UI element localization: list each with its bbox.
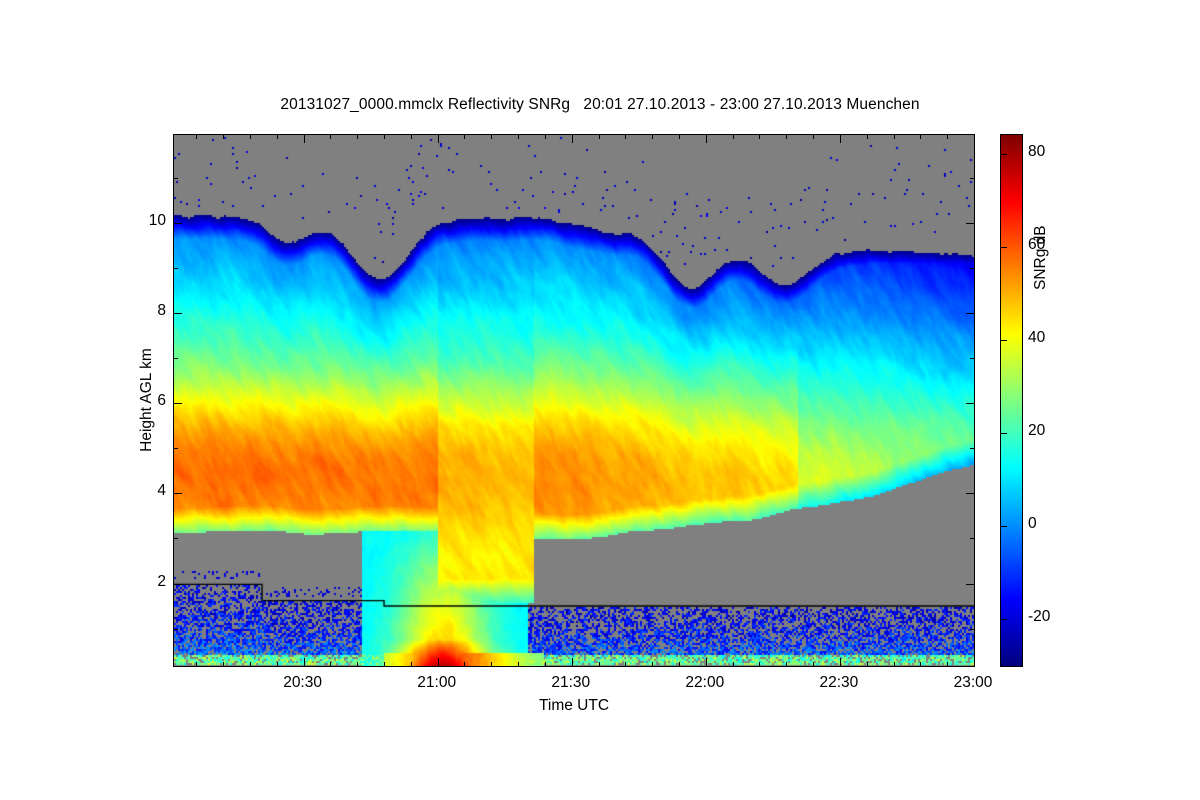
x-minor-tick-top: [867, 135, 868, 139]
colorbar-label: SNRg dB: [1032, 70, 1050, 290]
x-minor-tick: [277, 662, 278, 666]
x-minor-tick: [330, 662, 331, 666]
x-minor-tick: [947, 662, 948, 666]
x-minor-tick: [357, 662, 358, 666]
x-major-tick-top: [438, 135, 439, 143]
x-minor-tick: [652, 662, 653, 666]
x-minor-tick-top: [947, 135, 948, 139]
colorbar-tick-label: 0: [1028, 515, 1037, 533]
plot-title: 20131027_0000.mmclx Reflectivity SNRg 20…: [0, 96, 1200, 114]
x-axis-label: Time UTC: [173, 697, 975, 715]
y-tick-label: 4: [157, 482, 166, 500]
y-minor-tick-right: [970, 538, 974, 539]
x-minor-tick: [625, 662, 626, 666]
x-minor-tick-top: [625, 135, 626, 139]
x-minor-tick: [411, 662, 412, 666]
colorbar-tick-label: 20: [1028, 422, 1045, 440]
x-minor-tick: [384, 662, 385, 666]
x-minor-tick-top: [357, 135, 358, 139]
x-tick-label: 23:00: [954, 674, 993, 692]
x-major-tick: [438, 658, 439, 666]
y-major-tick: [174, 493, 182, 494]
plot-axes-area: [173, 134, 975, 667]
y-minor-tick: [174, 268, 178, 269]
x-minor-tick-top: [652, 135, 653, 139]
x-major-tick-top: [974, 135, 975, 143]
x-minor-tick: [250, 662, 251, 666]
x-minor-tick-top: [813, 135, 814, 139]
colorbar-tick: [1001, 619, 1007, 620]
y-major-tick-right: [966, 584, 974, 585]
colorbar-tick: [1001, 247, 1007, 248]
x-minor-tick-top: [786, 135, 787, 139]
y-minor-tick: [174, 629, 178, 630]
radar-reflectivity-figure: 20131027_0000.mmclx Reflectivity SNRg 20…: [0, 0, 1200, 800]
y-minor-tick: [174, 178, 178, 179]
x-minor-tick: [733, 662, 734, 666]
x-tick-label: 20:30: [283, 674, 322, 692]
x-major-tick: [706, 658, 707, 666]
x-minor-tick: [813, 662, 814, 666]
x-minor-tick-top: [464, 135, 465, 139]
x-major-tick-top: [304, 135, 305, 143]
y-minor-tick-right: [970, 178, 974, 179]
y-minor-tick-right: [970, 448, 974, 449]
x-major-tick-top: [572, 135, 573, 143]
x-minor-tick-top: [384, 135, 385, 139]
x-minor-tick: [545, 662, 546, 666]
y-tick-label: 2: [157, 573, 166, 591]
x-minor-tick: [518, 662, 519, 666]
x-minor-tick: [867, 662, 868, 666]
y-major-tick-right: [966, 403, 974, 404]
x-minor-tick-top: [733, 135, 734, 139]
y-minor-tick: [174, 448, 178, 449]
x-minor-tick: [679, 662, 680, 666]
x-major-tick: [840, 658, 841, 666]
x-tick-label: 21:00: [417, 674, 456, 692]
x-minor-tick-top: [920, 135, 921, 139]
x-major-tick: [974, 658, 975, 666]
y-tick-label: 8: [157, 302, 166, 320]
x-minor-tick-top: [250, 135, 251, 139]
colorbar-gradient: [1001, 135, 1022, 666]
y-axis-label: Height AGL km: [138, 100, 156, 700]
x-minor-tick-top: [545, 135, 546, 139]
y-minor-tick: [174, 358, 178, 359]
y-minor-tick-right: [970, 358, 974, 359]
x-major-tick: [572, 658, 573, 666]
x-minor-tick: [894, 662, 895, 666]
reflectivity-heatmap: [174, 135, 974, 666]
y-major-tick: [174, 403, 182, 404]
colorbar-tick: [1001, 154, 1007, 155]
y-major-tick-right: [966, 223, 974, 224]
y-minor-tick-right: [970, 629, 974, 630]
x-minor-tick: [759, 662, 760, 666]
x-minor-tick: [223, 662, 224, 666]
x-major-tick-top: [840, 135, 841, 143]
x-minor-tick: [196, 662, 197, 666]
x-minor-tick: [464, 662, 465, 666]
colorbar-tick-label: 40: [1028, 329, 1045, 347]
x-minor-tick-top: [894, 135, 895, 139]
x-major-tick-top: [706, 135, 707, 143]
y-major-tick: [174, 223, 182, 224]
colorbar-tick: [1001, 526, 1007, 527]
x-minor-tick: [599, 662, 600, 666]
y-major-tick-right: [966, 313, 974, 314]
colorbar-tick: [1001, 340, 1007, 341]
x-minor-tick: [920, 662, 921, 666]
y-major-tick-right: [966, 493, 974, 494]
colorbar: [1000, 134, 1023, 667]
colorbar-tick: [1001, 433, 1007, 434]
x-minor-tick-top: [679, 135, 680, 139]
y-axis-tick-labels: 246810: [104, 134, 166, 667]
y-major-tick: [174, 313, 182, 314]
x-minor-tick-top: [277, 135, 278, 139]
x-minor-tick-top: [491, 135, 492, 139]
x-minor-tick: [491, 662, 492, 666]
x-axis-tick-labels: 20:3021:0021:3022:0022:3023:00: [173, 674, 975, 698]
y-tick-label: 6: [157, 392, 166, 410]
x-tick-label: 22:30: [820, 674, 859, 692]
x-minor-tick-top: [330, 135, 331, 139]
x-minor-tick-top: [599, 135, 600, 139]
x-tick-label: 22:00: [685, 674, 724, 692]
colorbar-tick-label: -20: [1028, 608, 1050, 626]
y-major-tick: [174, 584, 182, 585]
x-tick-label: 21:30: [551, 674, 590, 692]
x-major-tick: [304, 658, 305, 666]
x-minor-tick-top: [196, 135, 197, 139]
x-minor-tick: [786, 662, 787, 666]
x-minor-tick-top: [411, 135, 412, 139]
x-minor-tick-top: [759, 135, 760, 139]
y-minor-tick: [174, 538, 178, 539]
y-minor-tick-right: [970, 268, 974, 269]
x-minor-tick-top: [223, 135, 224, 139]
x-minor-tick-top: [518, 135, 519, 139]
